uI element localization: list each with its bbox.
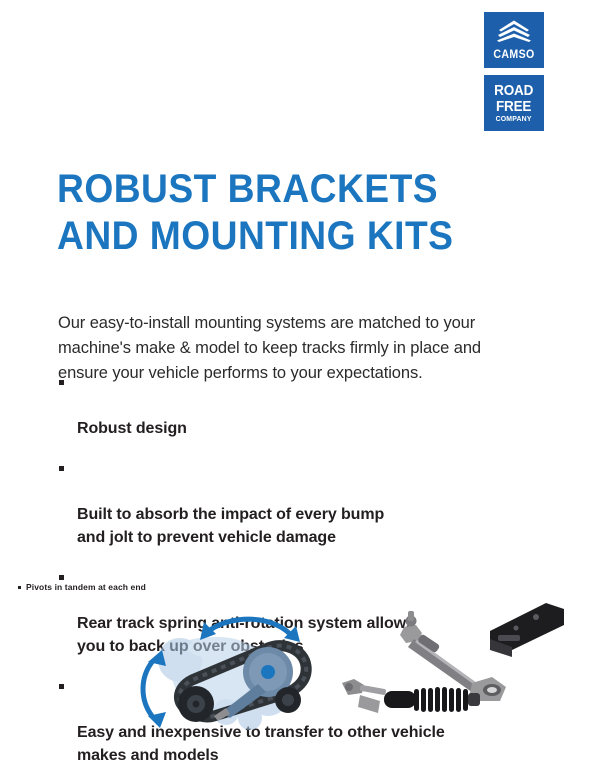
idler-wheel: [178, 686, 214, 722]
page-title: ROBUST BRACKETS AND MOUNTING KITS: [57, 166, 453, 260]
list-item: Robust design: [58, 371, 518, 440]
list-item: Built to absorb the impact of every bump…: [58, 457, 518, 549]
pivot-arrow-left: [143, 662, 152, 716]
coil-spring-coils: [414, 687, 468, 712]
camso-chevron-emblem: [494, 19, 534, 43]
road-free-line-1: ROAD: [494, 83, 533, 98]
pivot-arrow-top: [210, 619, 290, 634]
road-free-line-2: FREE: [496, 99, 531, 114]
square-bullet-icon: [59, 684, 64, 689]
list-item-text: Built to absorb the impact of every bump…: [77, 506, 384, 546]
track-system-pivot-diagram: [118, 600, 348, 740]
camso-wordmark: CAMSO: [486, 49, 541, 61]
square-bullet-icon: [59, 466, 64, 471]
list-item-text: Robust design: [77, 420, 187, 437]
footnote: Pivots in tandem at each end: [18, 582, 146, 592]
brand-logo-stack: CAMSO ROAD FREE COMPANY: [484, 12, 544, 131]
link-rod-bracket: [400, 611, 506, 701]
footnote-text: Pivots in tandem at each end: [26, 582, 146, 592]
track-diagram-svg: [118, 600, 348, 740]
mounting-hardware-photo: [340, 595, 570, 730]
road-free-company-logo-box: ROAD FREE COMPANY: [484, 75, 544, 131]
road-free-line-3: COMPANY: [496, 115, 532, 123]
rear-roller: [275, 687, 301, 713]
black-mount-bracket: [490, 603, 564, 657]
anti-rotation-spring: [342, 679, 480, 713]
square-bullet-icon: [59, 575, 64, 580]
hardware-svg: [340, 595, 570, 730]
square-bullet-icon: [59, 380, 64, 385]
square-bullet-icon: [18, 586, 21, 589]
camso-logo-box: CAMSO: [484, 12, 544, 68]
